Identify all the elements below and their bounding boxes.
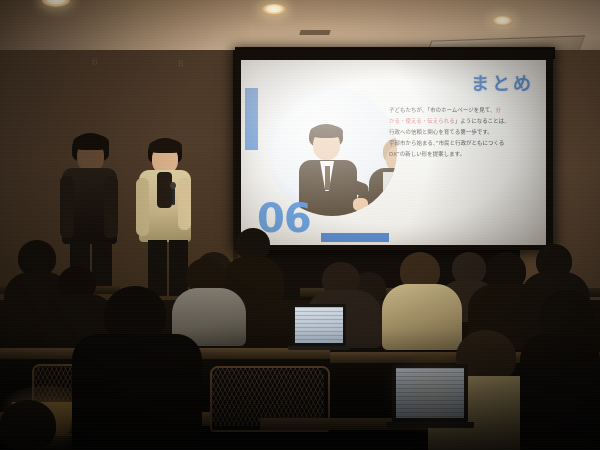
slide-text-line: 行政への信頼と関心を育てる第一歩です。: [389, 128, 537, 139]
slide-text-segment: 子どもたちが、「市のホームページを見て、: [389, 108, 495, 114]
conference-room-photo: 6 6 6 6 まとめ: [0, 0, 600, 450]
slide-text-segment: 宇部市から始まる、”市民と行政がともにつくる: [389, 141, 504, 147]
wall-mark: 6: [178, 58, 184, 70]
slide-text-line: 子どもたちが、「市のホームページを見て、分: [389, 106, 537, 117]
slide-text-segment: 行政への信頼と関心を育てる第一歩です。: [389, 130, 493, 136]
wall-mark: 6: [92, 56, 98, 68]
laptop-screen-content: [396, 368, 464, 418]
slide-text-segment: DX”の新しい形を提案します。: [389, 152, 465, 158]
slide-text-segment-highlight: かる・使える・伝えられる: [389, 119, 455, 125]
slide-text-line: かる・使える・伝えられる」ようになることは、: [389, 117, 537, 128]
downlight-icon: [492, 16, 513, 26]
laptop-screen-content: [295, 307, 343, 343]
slide-text-segment-highlight: 分: [495, 108, 501, 114]
wall-mark: 6: [556, 62, 562, 74]
slide-text-segment: 」ようになることは、: [455, 119, 510, 125]
microphone-icon: [172, 188, 175, 205]
slide-text-line: DX”の新しい形を提案します。: [389, 150, 537, 161]
projected-slide: まとめ: [241, 60, 546, 245]
slide-accent-bar-left: [245, 88, 258, 150]
slide-accent-bar-bottom: [321, 233, 389, 242]
slide-title: まとめ: [471, 70, 534, 96]
slide-body-text: 子どもたちが、「市のホームページを見て、分 かる・使える・伝えられる」ようになる…: [389, 106, 537, 161]
slide-text-line: 宇部市から始まる、”市民と行政がともにつくる: [389, 139, 537, 150]
wall-mark: 6: [570, 190, 576, 202]
ceiling-strip: [299, 30, 330, 35]
downlight-icon: [262, 4, 286, 15]
microphone-head-icon: [170, 182, 176, 189]
